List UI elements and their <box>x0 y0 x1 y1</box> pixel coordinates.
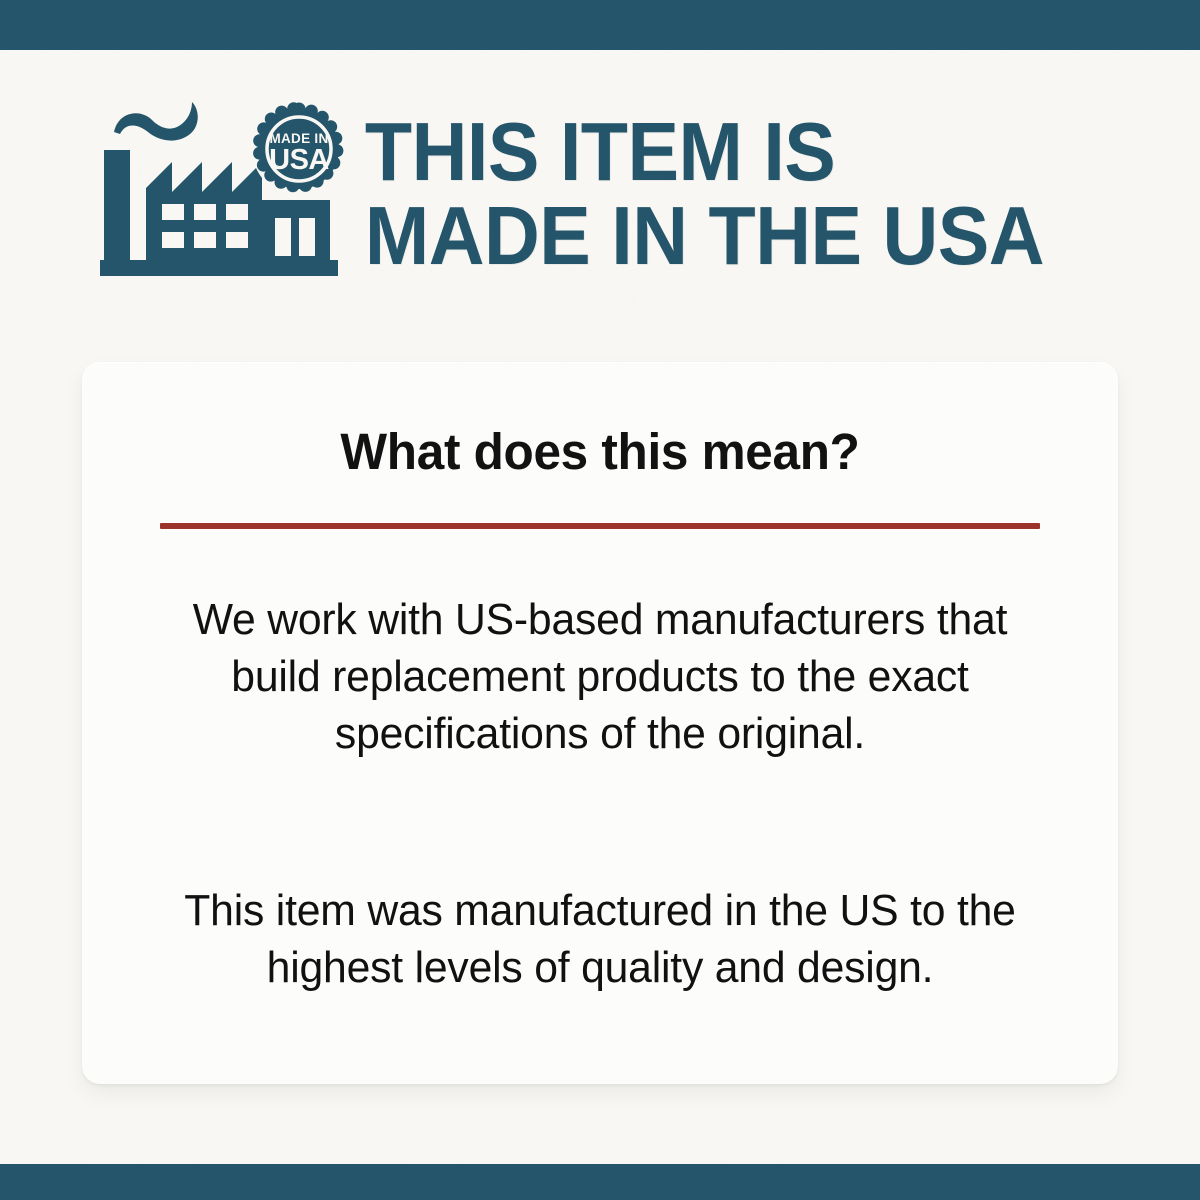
header: MADE IN USA THIS ITEM IS MADE IN THE USA <box>100 96 1160 296</box>
bottom-accent-band <box>0 1164 1200 1200</box>
smoke-icon <box>114 102 198 141</box>
card-paragraph-2: This item was manufactured in the US to … <box>98 882 1103 996</box>
card-heading: What does this mean? <box>98 362 1103 481</box>
chimney-icon <box>104 150 130 260</box>
made-in-usa-poster: MADE IN USA THIS ITEM IS MADE IN THE USA… <box>0 0 1200 1200</box>
page-title: THIS ITEM IS MADE IN THE USA <box>350 96 1044 278</box>
card-paragraph-1: We work with US-based manufacturers that… <box>98 591 1103 762</box>
top-accent-band <box>0 0 1200 50</box>
made-in-usa-badge: MADE IN USA <box>252 102 346 196</box>
factory-right-building <box>262 200 330 260</box>
badge-line-2: USA <box>269 144 329 176</box>
red-divider-rule <box>160 523 1040 529</box>
factory-logo: MADE IN USA <box>100 96 350 286</box>
factory-base <box>100 260 338 276</box>
info-card: What does this mean? We work with US-bas… <box>82 362 1118 1084</box>
